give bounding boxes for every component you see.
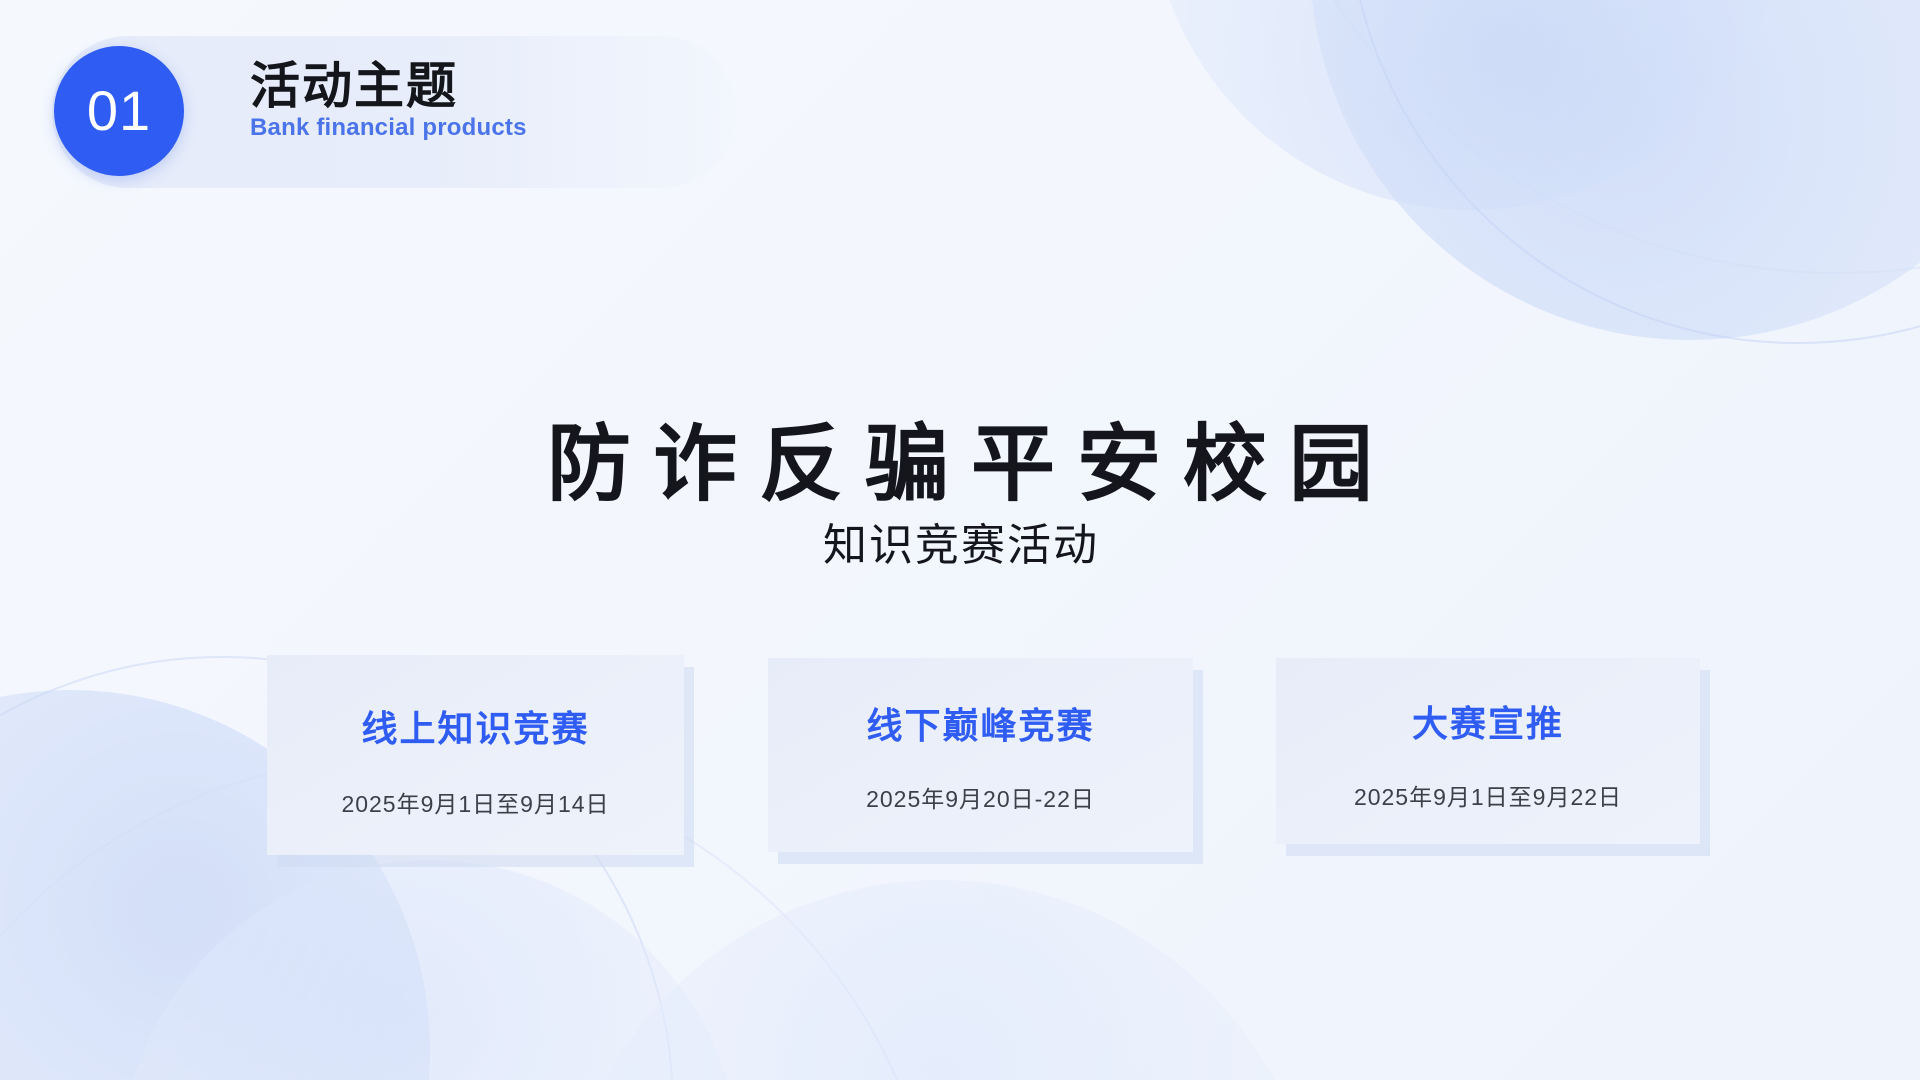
info-card[interactable]: 线下巅峰竞赛 2025年9月20日-22日 [768,658,1193,852]
info-card-title: 线下巅峰竞赛 [866,708,1094,744]
info-card[interactable]: 大赛宣推 2025年9月1日至9月22日 [1276,658,1700,844]
info-card-title: 线上知识竞赛 [361,711,589,747]
info-card-group: 线上知识竞赛 2025年9月1日至9月14日 线下巅峰竞赛 2025年9月20日… [0,0,1920,1080]
info-card-date: 2025年9月1日至9月22日 [1354,786,1622,809]
info-card-title: 大赛宣推 [1412,706,1564,742]
info-card[interactable]: 线上知识竞赛 2025年9月1日至9月14日 [267,655,684,855]
info-card-date: 2025年9月20日-22日 [866,788,1095,811]
slide-canvas: 01 活动主题 Bank financial products 防诈反骗平安校园… [0,0,1920,1080]
info-card-date: 2025年9月1日至9月14日 [341,793,609,816]
